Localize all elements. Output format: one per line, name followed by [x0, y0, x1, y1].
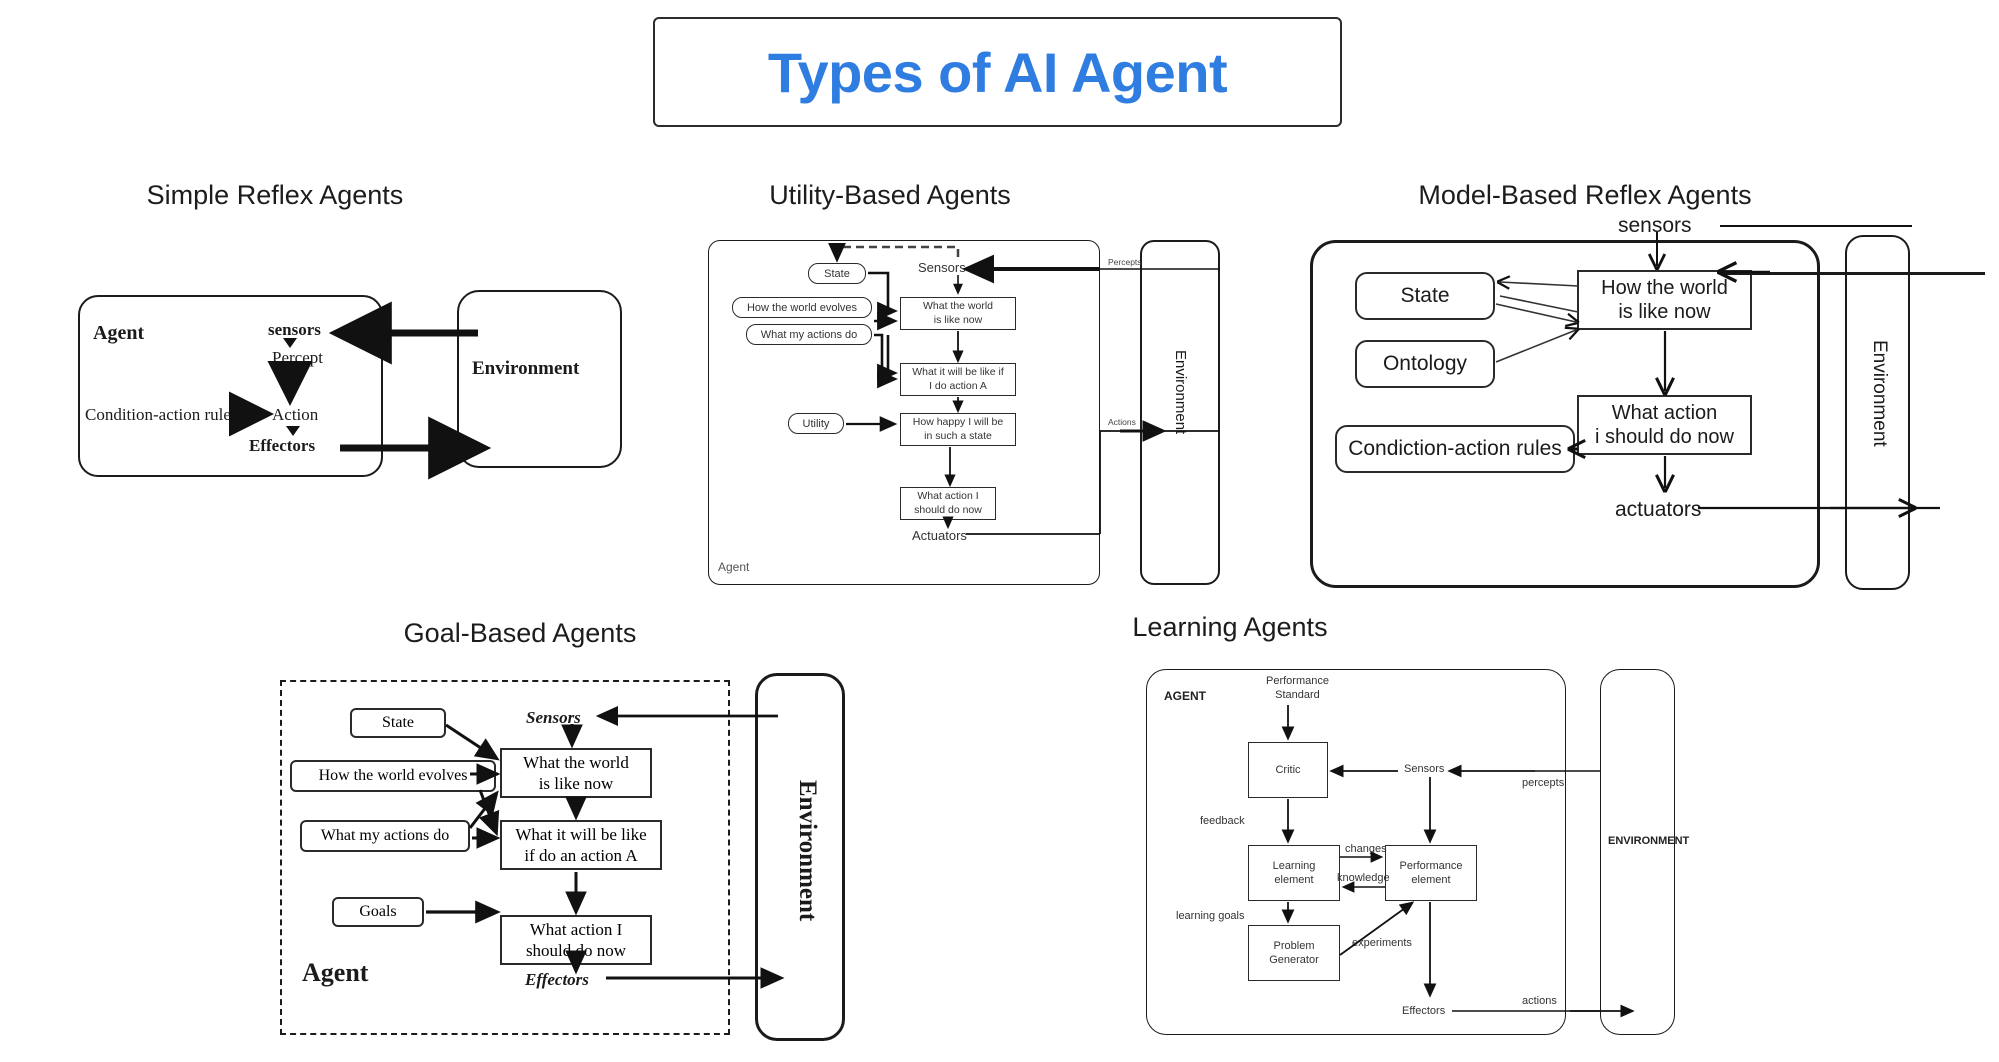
learning-arrows [1140, 665, 1880, 1045]
diagram-goal-based-agents: Environment Agent State How the world ev… [270, 670, 950, 1040]
poster-canvas: Types of AI Agent Simple Reflex Agents A… [0, 0, 1999, 1062]
heading-goal-based-agents: Goal-Based Agents [330, 618, 710, 649]
goal-arrows [270, 670, 950, 1040]
heading-learning-agents: Learning Agents [1020, 612, 1440, 643]
diagram-learning-agents: ENVIRONMENT AGENT Performance Standard C… [1140, 665, 1880, 1045]
